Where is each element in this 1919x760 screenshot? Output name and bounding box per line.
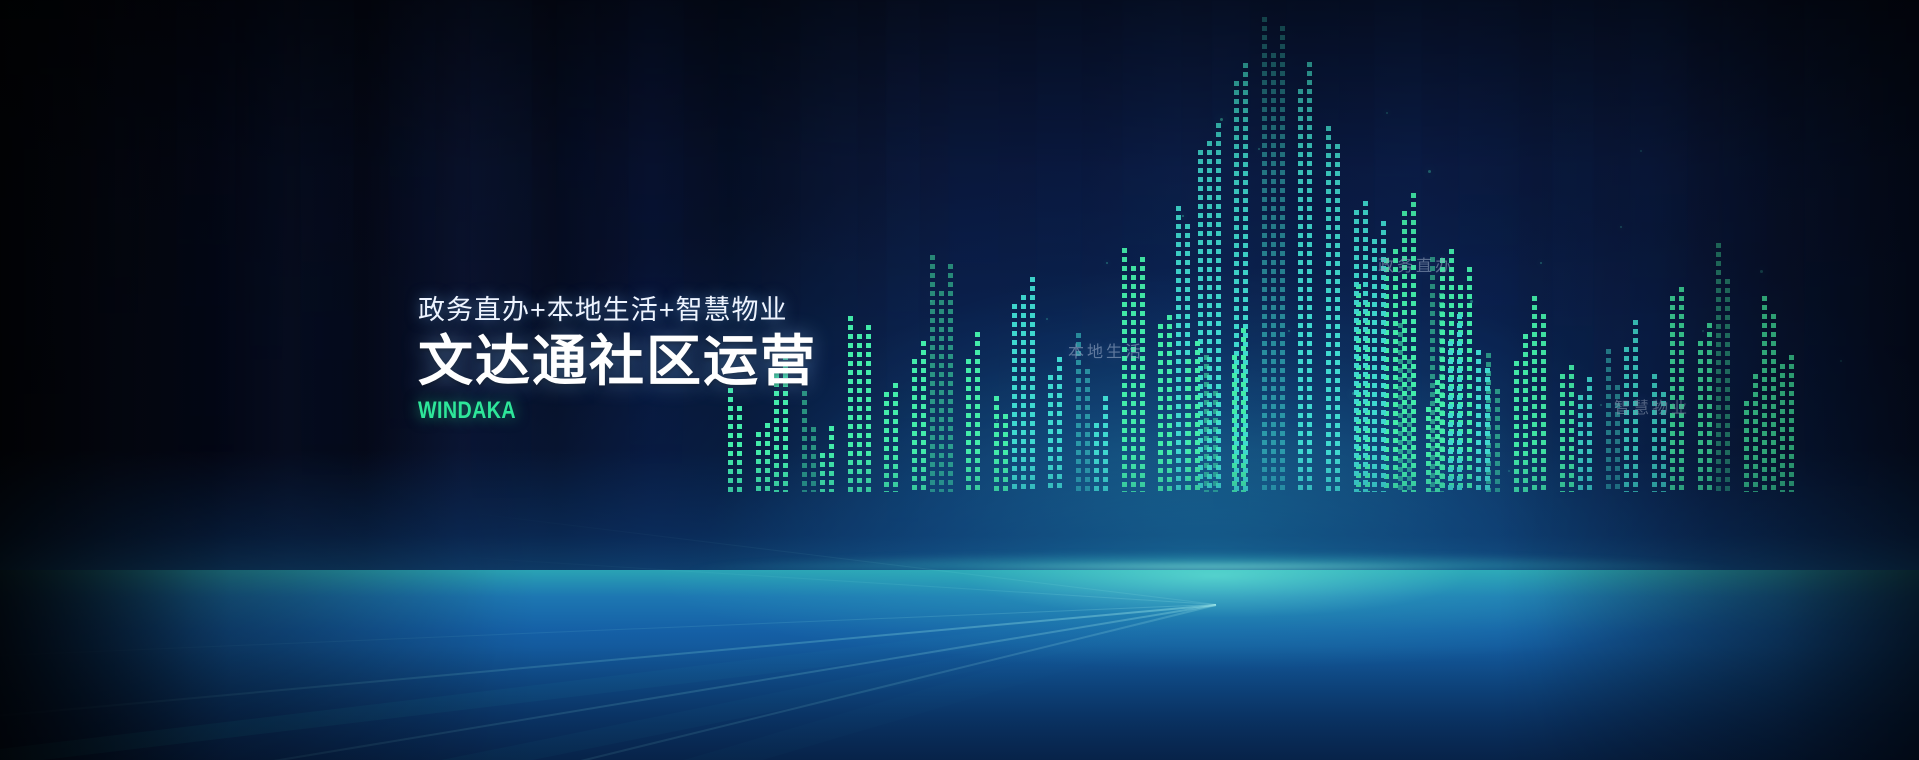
building [966, 332, 988, 492]
building [1122, 248, 1152, 492]
building-dot-column [811, 427, 816, 492]
building-dot-column [893, 383, 898, 492]
building-dot-column [1698, 341, 1703, 492]
building [1448, 314, 1470, 492]
building-dot-column [1048, 375, 1053, 492]
building-dot-column [1298, 89, 1303, 492]
building-dot-column [1541, 314, 1546, 492]
building-dot-column [1569, 365, 1574, 492]
building [1158, 306, 1180, 492]
building [1094, 396, 1116, 492]
building [1716, 252, 1738, 492]
building-dot-column [1514, 361, 1519, 492]
building-dot-column [1457, 314, 1462, 492]
hero-title: 文达通社区运营 [418, 333, 817, 391]
building [994, 396, 1008, 492]
building [1780, 346, 1794, 492]
building [1744, 374, 1758, 492]
building-dot-column [930, 255, 935, 492]
building-dot-column [1725, 279, 1730, 492]
building [1398, 332, 1420, 492]
building [820, 426, 842, 492]
hero-subtitle: 政务直办+本地生活+智慧物业 [418, 288, 817, 327]
building-dot-column [1195, 341, 1200, 492]
building-dot-column [1789, 355, 1794, 492]
brand-wordmark: WINDAKA [418, 397, 745, 425]
building-dot-column [975, 332, 980, 492]
building-dot-column [1012, 304, 1017, 492]
building-dot-column [939, 291, 944, 492]
building-dot-column [1426, 407, 1431, 492]
building-dot-column [1372, 239, 1377, 492]
building-dot-column [1204, 355, 1209, 492]
building [1048, 366, 1070, 492]
building-dot-column [1407, 359, 1412, 492]
building-dot-column [1762, 296, 1767, 492]
building [1076, 342, 1090, 492]
building-dot-column [1716, 243, 1721, 492]
building-dot-column [1679, 287, 1684, 492]
building-dot-column [884, 392, 889, 492]
building [912, 350, 926, 492]
building-dot-column [1167, 315, 1172, 492]
building-dot-column [1140, 257, 1145, 492]
building-dot-column [994, 396, 999, 492]
building-dot-column [1335, 144, 1340, 492]
building-dot-column [1476, 350, 1481, 492]
building-dot-column [765, 423, 770, 492]
building [1426, 380, 1440, 492]
horizon-glow [0, 544, 1919, 570]
building [848, 316, 878, 492]
building-dot-column [1094, 423, 1099, 492]
building [884, 374, 906, 492]
building [1262, 26, 1292, 492]
building-dot-column [1122, 248, 1127, 492]
building [1186, 350, 1200, 492]
building-dot-column [1398, 323, 1403, 492]
building-dot-column [1532, 296, 1537, 492]
building [1232, 328, 1246, 492]
building-dot-column [1103, 396, 1108, 492]
building-dot-column [1744, 401, 1749, 492]
building-dot-column [848, 316, 853, 492]
building-dot-column [1030, 277, 1035, 492]
building [1762, 296, 1776, 492]
building-dot-column [1213, 391, 1218, 492]
building-dot-column [756, 432, 761, 492]
building [1670, 278, 1692, 492]
building-dot-column [1495, 389, 1500, 492]
building-dot-column [1354, 210, 1359, 492]
skyline-label-1: 本地生活 [1068, 338, 1144, 362]
building-dot-column [857, 334, 862, 492]
building-dot-column [1587, 377, 1592, 492]
building-dot-column [1606, 349, 1611, 492]
building-dot-column [1448, 341, 1453, 492]
building-dot-column [1085, 369, 1090, 492]
building [1298, 62, 1320, 492]
building-dot-column [1280, 26, 1285, 492]
building-dot-column [1624, 347, 1629, 492]
building [1652, 374, 1666, 492]
building-dot-column [1307, 62, 1312, 492]
building-dot-column [1435, 380, 1440, 492]
building-dot-column [1578, 395, 1583, 492]
building [1514, 334, 1528, 492]
building-dot-column [1158, 324, 1163, 492]
building [1606, 358, 1620, 492]
building-dot-column [1326, 126, 1331, 492]
skyline-label-2: 智慧物业 [1614, 394, 1690, 418]
hero-banner: 政务直办本地生活智慧物业 政务直办+本地生活+智慧物业 文达通社区运营 WIND… [0, 0, 1919, 760]
building-dot-column [1560, 374, 1565, 492]
building-dot-column [1753, 374, 1758, 492]
building [1532, 296, 1554, 492]
building-dot-column [921, 341, 926, 492]
building [1326, 126, 1348, 492]
building-dot-column [829, 426, 834, 492]
building-dot-column [820, 453, 825, 492]
building-dot-column [1485, 368, 1490, 492]
building [1578, 386, 1600, 492]
ground-plane [0, 570, 1919, 760]
building-dot-column [866, 325, 871, 492]
building-dot-column [1186, 359, 1191, 492]
building-dot-column [966, 359, 971, 492]
building-dot-column [1771, 314, 1776, 492]
building [1476, 350, 1490, 492]
building [1354, 192, 1368, 492]
hero-copy: 政务直办+本地生活+智慧物业 文达通社区运营 WINDAKA [418, 288, 817, 425]
building [756, 414, 770, 492]
building [1012, 286, 1042, 492]
building-dot-column [912, 359, 917, 492]
building [1204, 364, 1226, 492]
building [1384, 240, 1398, 492]
building-dot-column [948, 264, 953, 492]
building-dot-column [1241, 328, 1246, 492]
building-dot-column [1262, 17, 1267, 492]
building-dot-column [1232, 355, 1237, 492]
building-dot-column [1003, 414, 1008, 492]
building-dot-column [1021, 295, 1026, 492]
building [1698, 332, 1712, 492]
building-dot-column [1363, 201, 1368, 492]
building-dot-column [1780, 364, 1785, 492]
skyline-label-0: 政务直办 [1378, 252, 1454, 276]
building-dot-column [1652, 374, 1657, 492]
building-dot-column [1057, 357, 1062, 492]
building [930, 264, 960, 492]
building [1560, 356, 1574, 492]
building-dot-column [1131, 266, 1136, 492]
building-dot-column [1271, 53, 1276, 492]
building-dot-column [1707, 323, 1712, 492]
building-dot-column [1523, 334, 1528, 492]
